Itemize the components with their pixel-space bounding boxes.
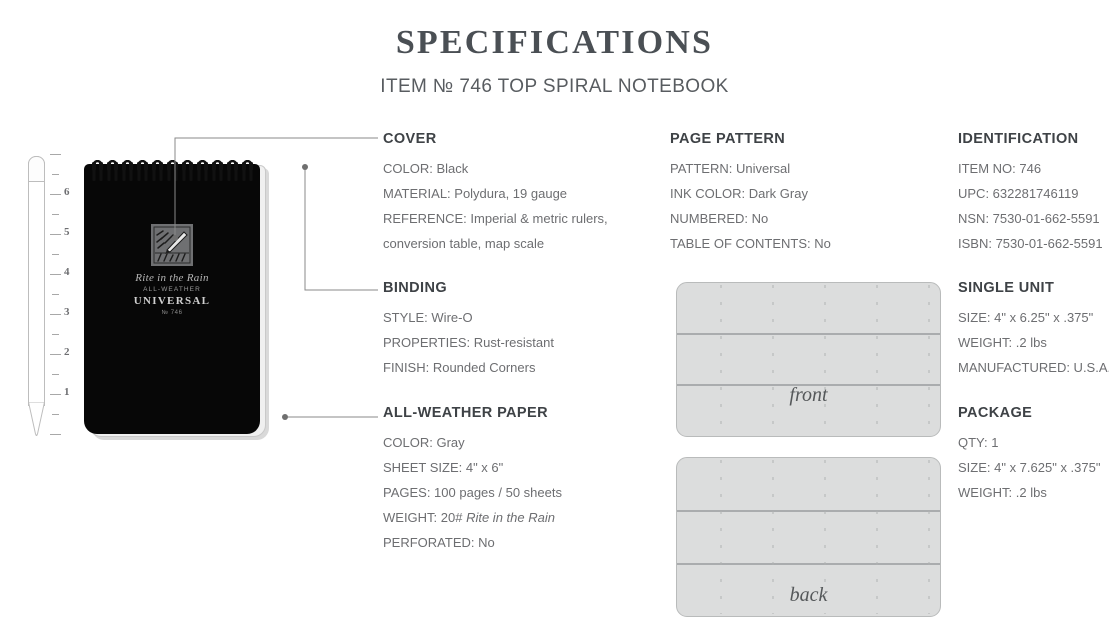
pencil-eraser-cap xyxy=(28,156,45,182)
ruler-tick-major-2 xyxy=(50,354,61,355)
cover-logo-block: Rite in the Rain ALL-WEATHER UNIVERSAL №… xyxy=(84,224,260,316)
ruler-tick-major-3 xyxy=(50,314,61,315)
spec-group-package: PACKAGE QTY: 1 SIZE: 4" x 7.625" x .375"… xyxy=(958,405,1108,505)
paper-weight-label: WEIGHT: 20# xyxy=(383,510,466,525)
spec-heading-cover: COVER xyxy=(383,131,668,147)
page-subtitle: ITEM № 746 TOP SPIRAL NOTEBOOK xyxy=(0,76,1109,98)
spec-group-binding: BINDING STYLE: Wire-O PROPERTIES: Rust-r… xyxy=(383,280,668,380)
wire-o-spiral-binding xyxy=(84,160,260,186)
spec-group-single-unit: SINGLE UNIT SIZE: 4" x 6.25" x .375" WEI… xyxy=(958,280,1108,380)
spec-line-pattern: PATTERN: Universal xyxy=(670,156,950,181)
pencil-tip xyxy=(28,402,45,436)
spec-line-paper-perforated: PERFORATED: No xyxy=(383,530,668,555)
page-header: SPECIFICATIONS ITEM № 746 TOP SPIRAL NOT… xyxy=(0,0,1109,98)
ruler-label-2: 2 xyxy=(64,346,70,358)
ruler-tick-major-4 xyxy=(50,274,61,275)
spec-line-binding-finish: FINISH: Rounded Corners xyxy=(383,355,668,380)
ruler-tick-minor xyxy=(52,254,59,255)
ruler-tick-minor xyxy=(52,334,59,335)
pencil-body xyxy=(28,156,45,406)
spec-line-single-weight: WEIGHT: .2 lbs xyxy=(958,330,1108,355)
ruler-tick-minor xyxy=(52,414,59,415)
cover-brand-script: Rite in the Rain xyxy=(84,272,260,284)
ruler-tick-major-5 xyxy=(50,234,61,235)
ruler-tick-minor xyxy=(52,214,59,215)
page-title: SPECIFICATIONS xyxy=(0,24,1109,62)
ruler-tick-bottom xyxy=(50,434,61,435)
ruler-tick-major-6 xyxy=(50,194,61,195)
spec-group-identification: IDENTIFICATION ITEM NO: 746 UPC: 6322817… xyxy=(958,131,1108,256)
ruler-tick-top xyxy=(50,154,61,155)
spec-line-binding-properties: PROPERTIES: Rust-resistant xyxy=(383,330,668,355)
page-pattern-panel-front: front xyxy=(676,282,941,437)
ruler-tick-major-1 xyxy=(50,394,61,395)
ruler-label-3: 3 xyxy=(64,306,70,318)
rite-in-the-rain-emblem-icon xyxy=(151,224,193,266)
spec-line-binding-style: STYLE: Wire-O xyxy=(383,305,668,330)
ruler-label-4: 4 xyxy=(64,266,70,278)
spec-line-ink-color: INK COLOR: Dark Gray xyxy=(670,181,950,206)
page-pattern-panel-back: back xyxy=(676,457,941,617)
ruler-tick-minor xyxy=(52,374,59,375)
spec-heading-all-weather-paper: ALL-WEATHER PAPER xyxy=(383,405,668,421)
spec-line-paper-weight: WEIGHT: 20# Rite in the Rain xyxy=(383,505,668,530)
spec-line-item-no: ITEM NO: 746 xyxy=(958,156,1108,181)
spec-line-paper-color: COLOR: Gray xyxy=(383,430,668,455)
spec-line-package-weight: WEIGHT: .2 lbs xyxy=(958,480,1108,505)
spec-heading-page-pattern: PAGE PATTERN xyxy=(670,131,950,147)
pencil-ruler-graphic: 6 5 4 3 2 1 xyxy=(14,148,74,438)
spec-line-numbered: NUMBERED: No xyxy=(670,206,950,231)
panel-label-back: back xyxy=(677,584,940,607)
spec-line-cover-color: COLOR: Black xyxy=(383,156,668,181)
spec-heading-identification: IDENTIFICATION xyxy=(958,131,1108,147)
spec-heading-single-unit: SINGLE UNIT xyxy=(958,280,1108,296)
spec-line-table-of-contents: TABLE OF CONTENTS: No xyxy=(670,231,950,256)
spec-line-paper-pages: PAGES: 100 pages / 50 sheets xyxy=(383,480,668,505)
ruler-tick-minor xyxy=(52,174,59,175)
paper-weight-brand: Rite in the Rain xyxy=(466,510,555,525)
ruler-label-6: 6 xyxy=(64,186,70,198)
spec-line-cover-material: MATERIAL: Polydura, 19 gauge xyxy=(383,181,668,206)
spec-group-all-weather-paper: ALL-WEATHER PAPER COLOR: Gray SHEET SIZE… xyxy=(383,405,668,555)
ruler-tick-minor xyxy=(52,294,59,295)
spec-line-paper-sheet-size: SHEET SIZE: 4" x 6" xyxy=(383,455,668,480)
cover-item-number: № 746 xyxy=(84,310,260,316)
notebook-product-image: Rite in the Rain ALL-WEATHER UNIVERSAL №… xyxy=(84,160,269,440)
spec-heading-package: PACKAGE xyxy=(958,405,1108,421)
spec-line-single-size: SIZE: 4" x 6.25" x .375" xyxy=(958,305,1108,330)
spec-group-page-pattern: PAGE PATTERN PATTERN: Universal INK COLO… xyxy=(670,131,950,256)
cover-universal-text: UNIVERSAL xyxy=(84,295,260,307)
spec-line-manufactured: MANUFACTURED: U.S.A. xyxy=(958,355,1108,380)
ruler-label-1: 1 xyxy=(64,386,70,398)
spec-line-package-qty: QTY: 1 xyxy=(958,430,1108,455)
spec-line-package-size: SIZE: 4" x 7.625" x .375" xyxy=(958,455,1108,480)
panel-label-front: front xyxy=(677,384,940,407)
spec-heading-binding: BINDING xyxy=(383,280,668,296)
ruler-label-5: 5 xyxy=(64,226,70,238)
spec-line-nsn: NSN: 7530-01-662-5591 xyxy=(958,206,1108,231)
spec-line-upc: UPC: 632281746119 xyxy=(958,181,1108,206)
spec-group-cover: COVER COLOR: Black MATERIAL: Polydura, 1… xyxy=(383,131,668,256)
cover-all-weather-text: ALL-WEATHER xyxy=(84,286,260,293)
spec-line-cover-reference: REFERENCE: Imperial & metric rulers, con… xyxy=(383,206,668,256)
spec-line-isbn: ISBN: 7530-01-662-5591 xyxy=(958,231,1108,256)
